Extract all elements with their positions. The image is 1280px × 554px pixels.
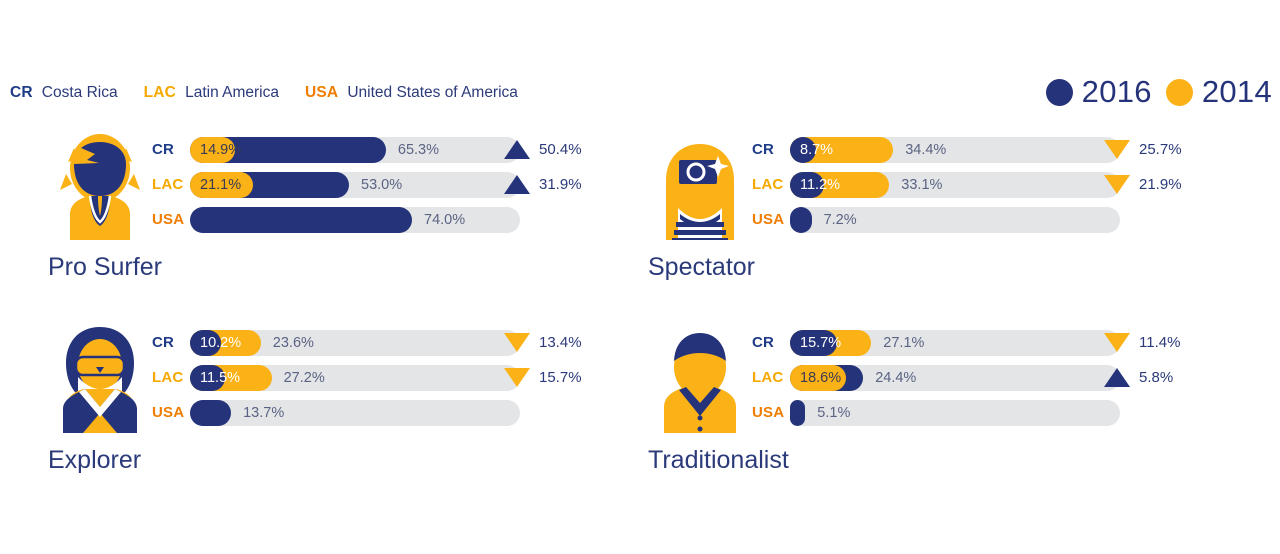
bar-row-usa: USA74.0% [152, 202, 520, 237]
row-code-usa: USA [752, 211, 790, 228]
year-legend-item-2014: 2014 [1166, 74, 1272, 110]
triangle-up-icon [504, 175, 530, 194]
year-legend-item-2016: 2016 [1046, 74, 1152, 110]
bar-value-2014: 18.6% [800, 365, 841, 391]
year-legend: 2016 2014 [1046, 74, 1272, 110]
delta-indicator: 50.4% [504, 132, 582, 167]
panel-title: Traditionalist [648, 446, 789, 475]
panel-title: Pro Surfer [48, 253, 162, 282]
panel-explorer: ExplorerCR10.2%23.6%13.4%LAC11.5%27.2%15… [20, 321, 640, 526]
panel-traditionalist: TraditionalistCR15.7%27.1%11.4%LAC18.6%2… [620, 321, 1240, 526]
triangle-up-icon [1104, 368, 1130, 387]
row-code-lac: LAC [152, 176, 190, 193]
year-legend-label-2016: 2016 [1082, 74, 1152, 110]
bar-row-lac: LAC18.6%24.4%5.8% [752, 360, 1120, 395]
traditionalist-icon [652, 321, 748, 433]
bar-value-2014: 34.4% [905, 137, 946, 163]
bar-row-usa: USA13.7% [152, 395, 520, 430]
bar-2016-fill [790, 400, 805, 426]
delta-indicator: 11.4% [1104, 325, 1180, 360]
legend-name-lac: Latin America [185, 84, 279, 102]
panel-spectator: SpectatorCR8.7%34.4%25.7%LAC11.2%33.1%21… [620, 128, 1240, 333]
explorer-icon [52, 321, 148, 433]
bar-track: 13.7% [190, 400, 520, 426]
delta-value: 25.7% [1139, 141, 1182, 158]
circle-icon [1166, 79, 1193, 106]
bar-value-2014: 14.9% [200, 137, 241, 163]
delta-value: 31.9% [539, 176, 582, 193]
region-legend: CR Costa Rica LAC Latin America USA Unit… [10, 84, 544, 102]
delta-indicator: 31.9% [504, 167, 582, 202]
delta-indicator: 13.4% [504, 325, 582, 360]
bar-track: 5.1% [790, 400, 1120, 426]
bar-row-cr: CR14.9%65.3%50.4% [152, 132, 520, 167]
delta-value: 5.8% [1139, 369, 1173, 386]
bar-2016-fill [190, 207, 412, 233]
legend-name-usa: United States of America [347, 84, 518, 102]
pro-surfer-icon [52, 128, 148, 240]
bar-row-usa: USA7.2% [752, 202, 1120, 237]
legend-code-cr: CR [10, 84, 33, 102]
row-code-lac: LAC [152, 369, 190, 386]
bar-track: 18.6%24.4% [790, 365, 1120, 391]
delta-value: 21.9% [1139, 176, 1182, 193]
row-code-usa: USA [152, 211, 190, 228]
bar-track: 15.7%27.1% [790, 330, 1120, 356]
bar-row-cr: CR8.7%34.4%25.7% [752, 132, 1120, 167]
bar-row-cr: CR15.7%27.1%11.4% [752, 325, 1120, 360]
legend-code-lac: LAC [144, 84, 176, 102]
delta-indicator: 25.7% [1104, 132, 1182, 167]
bar-row-usa: USA5.1% [752, 395, 1120, 430]
bar-track: 21.1%53.0% [190, 172, 520, 198]
circle-icon [1046, 79, 1073, 106]
row-code-cr: CR [752, 141, 790, 158]
bar-value-2014: 23.6% [273, 330, 314, 356]
triangle-down-icon [504, 333, 530, 352]
row-code-usa: USA [752, 404, 790, 421]
bar-row-lac: LAC21.1%53.0%31.9% [152, 167, 520, 202]
bar-row-lac: LAC11.5%27.2%15.7% [152, 360, 520, 395]
bar-value-2016: 11.2% [800, 172, 840, 198]
bar-rows: CR10.2%23.6%13.4%LAC11.5%27.2%15.7%USA13… [152, 325, 520, 430]
bar-track: 11.5%27.2% [190, 365, 520, 391]
bar-track: 14.9%65.3% [190, 137, 520, 163]
bar-value-2014: 27.1% [883, 330, 924, 356]
panel-title: Spectator [648, 253, 755, 282]
triangle-up-icon [504, 140, 530, 159]
row-code-usa: USA [152, 404, 190, 421]
delta-value: 50.4% [539, 141, 582, 158]
delta-indicator: 15.7% [504, 360, 582, 395]
panel-pro-surfer: Pro SurferCR14.9%65.3%50.4%LAC21.1%53.0%… [20, 128, 640, 333]
bar-rows: CR8.7%34.4%25.7%LAC11.2%33.1%21.9%USA7.2… [752, 132, 1120, 237]
bar-value-2016: 65.3% [398, 137, 439, 163]
delta-value: 15.7% [539, 369, 582, 386]
bar-value-2016: 53.0% [361, 172, 402, 198]
bar-track: 74.0% [190, 207, 520, 233]
row-code-lac: LAC [752, 176, 790, 193]
row-code-lac: LAC [752, 369, 790, 386]
delta-value: 11.4% [1139, 334, 1180, 351]
bar-value-2016: 7.2% [824, 207, 857, 233]
triangle-down-icon [1104, 333, 1130, 352]
triangle-down-icon [1104, 175, 1130, 194]
bar-value-2016: 13.7% [243, 400, 284, 426]
bar-2016-fill [190, 400, 231, 426]
bar-2016-fill [790, 207, 812, 233]
spectator-icon [652, 128, 748, 240]
bar-value-2016: 24.4% [875, 365, 916, 391]
bar-value-2016: 5.1% [817, 400, 850, 426]
triangle-down-icon [504, 368, 530, 387]
bar-value-2016: 74.0% [424, 207, 465, 233]
bar-value-2016: 15.7% [800, 330, 841, 356]
bar-track: 8.7%34.4% [790, 137, 1120, 163]
row-code-cr: CR [152, 334, 190, 351]
bar-row-cr: CR10.2%23.6%13.4% [152, 325, 520, 360]
row-code-cr: CR [752, 334, 790, 351]
panel-title: Explorer [48, 446, 141, 475]
legend-name-cr: Costa Rica [42, 84, 118, 102]
triangle-down-icon [1104, 140, 1130, 159]
delta-indicator: 21.9% [1104, 167, 1182, 202]
bar-value-2016: 10.2% [200, 330, 241, 356]
bar-track: 11.2%33.1% [790, 172, 1120, 198]
bar-value-2014: 33.1% [901, 172, 942, 198]
bar-rows: CR14.9%65.3%50.4%LAC21.1%53.0%31.9%USA74… [152, 132, 520, 237]
year-legend-label-2014: 2014 [1202, 74, 1272, 110]
bar-rows: CR15.7%27.1%11.4%LAC18.6%24.4%5.8%USA5.1… [752, 325, 1120, 430]
row-code-cr: CR [152, 141, 190, 158]
delta-value: 13.4% [539, 334, 582, 351]
bar-track: 10.2%23.6% [190, 330, 520, 356]
bar-value-2016: 8.7% [800, 137, 833, 163]
legend-code-usa: USA [305, 84, 338, 102]
bar-track: 7.2% [790, 207, 1120, 233]
delta-indicator: 5.8% [1104, 360, 1173, 395]
bar-value-2014: 27.2% [284, 365, 325, 391]
bar-value-2016: 11.5% [200, 365, 240, 391]
bar-value-2014: 21.1% [200, 172, 241, 198]
bar-row-lac: LAC11.2%33.1%21.9% [752, 167, 1120, 202]
